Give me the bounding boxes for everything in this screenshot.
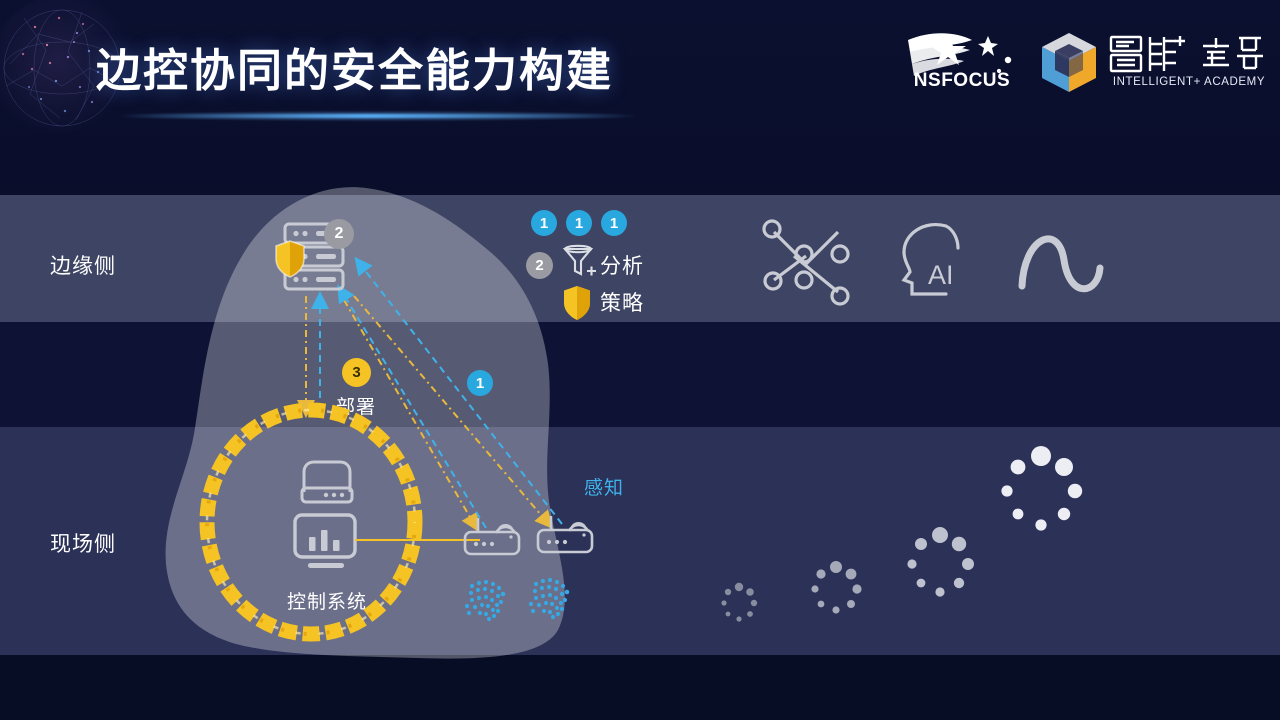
shield-icon xyxy=(274,240,306,278)
edge-item-label-analysis: 分析 xyxy=(600,250,644,280)
status-badge-blue-3: 1 xyxy=(601,210,627,236)
iota-dots-icon-2 xyxy=(527,574,577,622)
svg-text:AI: AI xyxy=(928,260,954,290)
iota-dots-icon-1 xyxy=(463,576,513,624)
dot-spinner-icon-1 xyxy=(716,580,762,626)
status-badge-analysis: 2 xyxy=(526,252,553,279)
wifi-router-icon-1 xyxy=(463,512,531,558)
sense-label: 感知 xyxy=(584,473,624,500)
slide-canvas: 边控协同的安全能力构建 NSFOCUS xyxy=(0,0,1280,720)
storage-device-icon xyxy=(298,458,356,506)
status-badge-sense: 1 xyxy=(467,370,493,396)
funnel-plus-icon xyxy=(560,243,600,283)
wave-signal-icon xyxy=(1018,224,1104,302)
dot-spinner-icon-3 xyxy=(900,524,980,604)
wifi-router-icon-2 xyxy=(536,510,604,556)
status-badge-server: 2 xyxy=(324,219,354,249)
control-system-label: 控制系统 xyxy=(287,587,367,614)
dot-spinner-icon-4 xyxy=(993,443,1089,539)
network-graph-icon xyxy=(760,218,852,306)
dot-spinner-icon-2 xyxy=(805,558,867,620)
edge-item-label-policy: 策略 xyxy=(600,287,644,317)
status-badge-blue-2: 1 xyxy=(566,210,592,236)
ai-head-icon: AI xyxy=(898,218,974,306)
connector-arrows xyxy=(0,0,1280,720)
control-monitor-chart-icon xyxy=(291,513,363,575)
status-badge-blue-1: 1 xyxy=(531,210,557,236)
control-link-line xyxy=(355,536,480,544)
shield-icon-policy xyxy=(562,285,592,321)
status-badge-deploy: 3 xyxy=(342,358,371,387)
